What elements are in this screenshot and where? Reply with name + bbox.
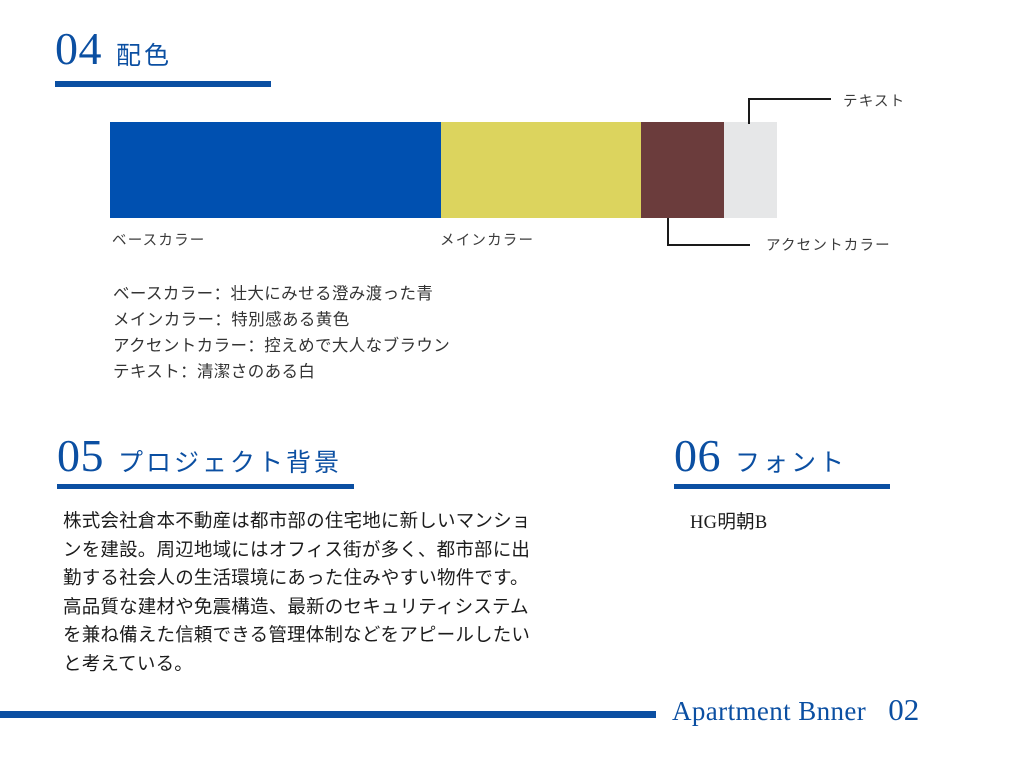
footer-title: Apartment Bnner: [672, 696, 866, 727]
swatch-caption-main: メインカラー: [440, 229, 534, 250]
callout-label-text: テキスト: [843, 90, 905, 111]
paragraph-line: 株式会社倉本不動産は都市部の住宅地に新しいマンショ: [63, 508, 583, 537]
section-04-number: 04: [55, 26, 102, 72]
section-06-number: 06: [674, 433, 721, 479]
footer: Apartment Bnner 02: [672, 692, 919, 728]
section-05-number: 05: [57, 433, 104, 479]
section-06-title: フォント: [735, 451, 847, 476]
callout-text-leader-vertical: [748, 98, 750, 124]
color-description-line: メインカラー：特別感ある黄色: [113, 307, 450, 333]
footer-page-number: 02: [888, 692, 919, 728]
callout-text-leader-horizontal: [748, 98, 831, 100]
paragraph-line: と考えている。: [63, 651, 583, 680]
callout-accent-leader-horizontal: [667, 244, 750, 246]
section-04-heading: 04 配色: [55, 26, 172, 72]
section-04-title: 配色: [116, 44, 172, 69]
swatch-main-color[interactable]: [441, 122, 641, 218]
callout-label-accent: アクセントカラー: [766, 234, 891, 255]
section-05-title: プロジェクト背景: [118, 451, 342, 476]
paragraph-line: 高品質な建材や免震構造、最新のセキュリティシステム: [63, 594, 583, 623]
section-06-heading: 06 フォント: [674, 433, 847, 479]
section-05-underline: [57, 484, 354, 489]
section-05-heading: 05 プロジェクト背景: [57, 433, 342, 479]
swatch-caption-base: ベースカラー: [112, 229, 205, 250]
color-description-line: ベースカラー：壮大にみせる澄み渡った青: [113, 281, 450, 307]
color-description-line: テキスト：清潔さのある白: [113, 359, 450, 385]
swatch-base-color[interactable]: [110, 122, 441, 218]
color-description-line: アクセントカラー：控えめで大人なブラウン: [113, 333, 450, 359]
color-description-list: ベースカラー：壮大にみせる澄み渡った青 メインカラー：特別感ある黄色 アクセント…: [113, 281, 450, 385]
paragraph-line: を兼ね備えた信頼できる管理体制などをアピールしたい: [63, 622, 583, 651]
project-background-paragraph: 株式会社倉本不動産は都市部の住宅地に新しいマンショ ンを建設。周辺地域にはオフィ…: [63, 508, 583, 679]
slide-canvas: 04 配色 ベースカラー メインカラー テキスト アクセントカラー ベースカラー…: [0, 0, 1024, 768]
footer-rule: [0, 711, 656, 718]
callout-accent-leader-vertical: [667, 218, 669, 245]
paragraph-line: ンを建設。周辺地域にはオフィス街が多く、都市部に出: [63, 537, 583, 566]
swatch-accent-color[interactable]: [641, 122, 724, 218]
swatch-text-color[interactable]: [724, 122, 777, 218]
section-04-underline: [55, 81, 271, 87]
paragraph-line: 勤する社会人の生活環境にあった住みやすい物件です。: [63, 565, 583, 594]
color-palette-bar: [110, 122, 777, 218]
font-sample-name: HG明朝B: [690, 508, 768, 534]
section-06-underline: [674, 484, 890, 489]
